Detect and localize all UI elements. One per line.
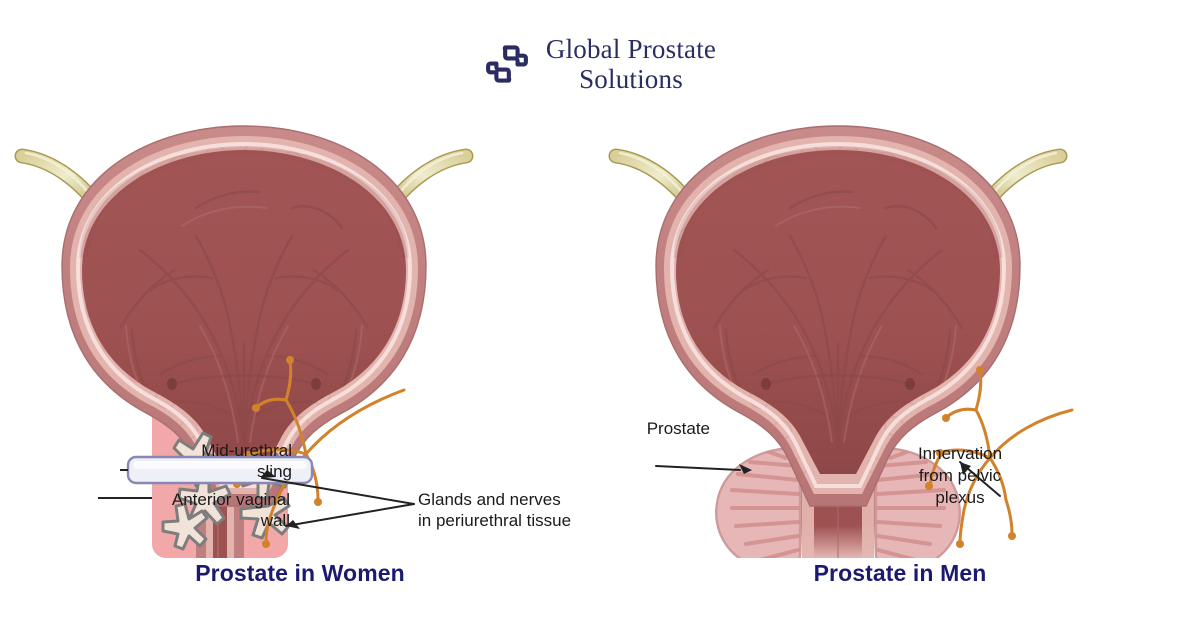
brand-wordmark: Global ProstateSolutions xyxy=(546,34,716,94)
caption-prostate-in-men: Prostate in Men xyxy=(600,560,1200,587)
label-line: wall xyxy=(261,511,290,530)
ureteral-orifice-left xyxy=(167,378,177,390)
label-glands-and-nerves: Glands and nerves in periurethral tissue xyxy=(418,489,618,532)
label-mid-urethral-sling: Mid-urethral sling xyxy=(170,440,292,483)
ureteral-orifice-right xyxy=(905,378,915,390)
label-anterior-vaginal-wall: Anterior vaginal wall xyxy=(138,489,290,532)
label-line: Innervation xyxy=(918,444,1002,463)
label-line: sling xyxy=(257,462,292,481)
label-line: Glands and nerves xyxy=(418,490,561,509)
brand-name-line-2: Solutions xyxy=(579,64,683,94)
label-innervation-from-pelvic-plexus: Innervation from pelvic plexus xyxy=(870,443,1050,509)
label-line: Anterior vaginal xyxy=(172,490,290,509)
panel-prostate-in-men: Prostate Innervation from pelvic plexus xyxy=(600,118,1200,558)
ureteral-orifice-left xyxy=(761,378,771,390)
label-line: Prostate xyxy=(647,419,710,438)
label-prostate: Prostate xyxy=(620,418,710,439)
caption-prostate-in-women: Prostate in Women xyxy=(0,560,600,587)
label-line: plexus xyxy=(935,488,984,507)
prostate-lobe-left xyxy=(716,448,800,558)
brand-logo: Global ProstateSolutions xyxy=(0,34,1200,94)
panel-prostate-in-women: Mid-urethral sling Anterior vaginal wall… xyxy=(0,118,600,558)
brand-name-line-1: Global Prostate xyxy=(546,34,716,64)
ureteral-orifice-right xyxy=(311,378,321,390)
label-line: from pelvic xyxy=(919,466,1001,485)
medical-cross-s-logo-icon xyxy=(484,41,530,87)
anatomy-figure: Mid-urethral sling Anterior vaginal wall… xyxy=(0,118,1200,558)
label-line: in periurethral tissue xyxy=(418,511,571,530)
label-line: Mid-urethral xyxy=(201,441,292,460)
